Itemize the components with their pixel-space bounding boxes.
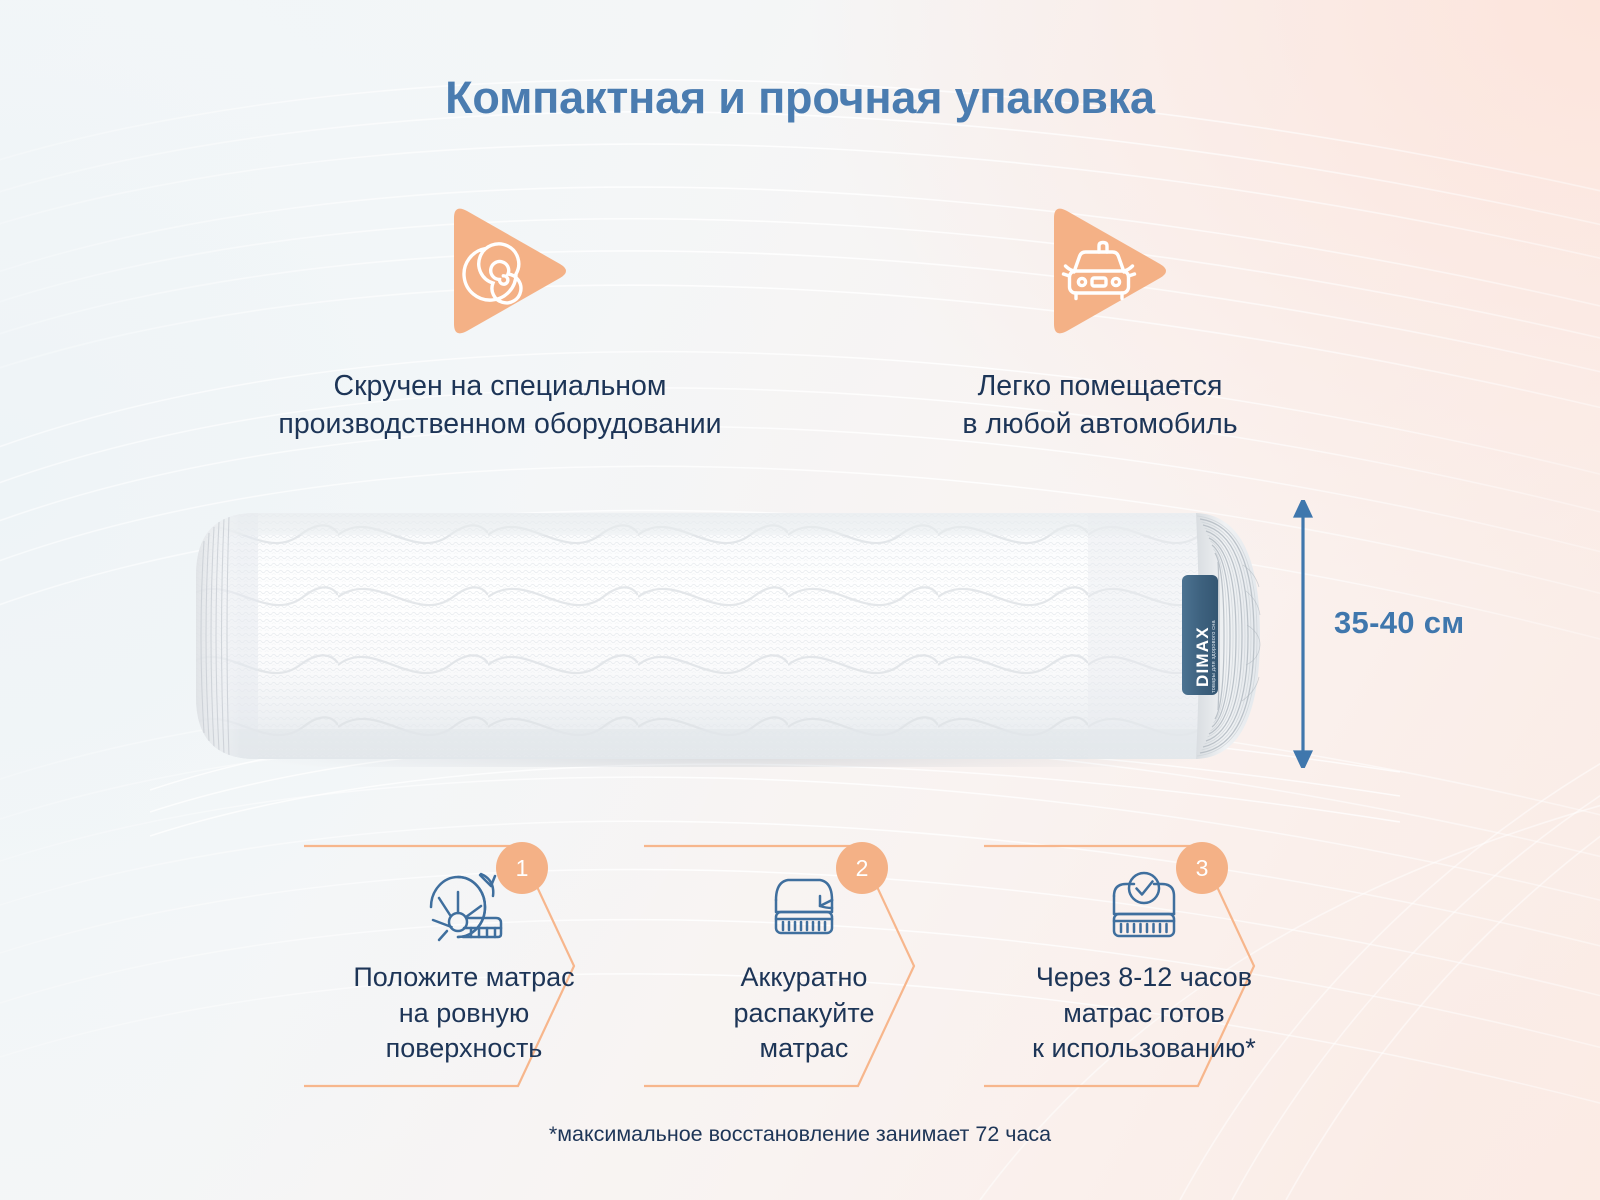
roll-body: [188, 505, 1263, 767]
feature-fits-any-car: Легко помещается в любой автомобиль: [870, 200, 1330, 444]
step-3-icon-wrap: [1104, 868, 1184, 946]
feature-label-roll: Скручен на специальном производственном …: [170, 368, 830, 444]
infographic-canvas: Компактная и прочная упаковка Скручен на…: [0, 0, 1600, 1200]
step-2: Аккуратно распакуйте матрас 2: [636, 842, 972, 1090]
step-2-label: Аккуратно распакуйте матрас: [734, 960, 875, 1067]
unwrap-mattress-icon: [764, 872, 844, 942]
feature-icon-badge-car: [870, 200, 1330, 350]
brand-tag: DIMAX товары для здорового сна: [1182, 575, 1218, 695]
step-1-number: 1: [496, 842, 548, 894]
step-2-icon-wrap: [764, 868, 844, 946]
rounded-triangle-right-shape: [424, 200, 576, 350]
step-1-label: Положите матрас на ровную поверхность: [353, 960, 574, 1067]
feature-icon-badge-roll: [170, 200, 830, 350]
feature-label-car: Легко помещается в любой автомобиль: [870, 368, 1330, 444]
step-1: Положите матрас на ровную поверхность 1: [296, 842, 632, 1090]
step-3-label: Через 8-12 часов матрас готов к использо…: [1032, 960, 1256, 1067]
feature-rolled-on-equipment: Скручен на специальном производственном …: [170, 200, 830, 444]
brand-tag-name: DIMAX: [1193, 626, 1212, 687]
dimension-label: 35-40 см: [1334, 605, 1464, 641]
mattress-roll-image: DIMAX товары для здорового сна: [188, 505, 1263, 767]
rounded-triangle-right-shape: [1024, 200, 1176, 350]
step-3-number: 3: [1176, 842, 1228, 894]
footnote: *максимальное восстановление занимает 72…: [0, 1122, 1600, 1147]
step-3: Через 8-12 часов матрас готов к использо…: [976, 842, 1312, 1090]
brand-tag-tagline: товары для здорового сна: [1211, 619, 1217, 693]
steps-row: Положите матрас на ровную поверхность 1: [296, 842, 1308, 1090]
step-2-number: 2: [836, 842, 888, 894]
unroll-mattress-icon: [423, 870, 505, 944]
page-title: Компактная и прочная упаковка: [0, 72, 1600, 124]
roll-left-edge: [188, 505, 240, 767]
mattress-ready-check-icon: [1104, 870, 1184, 944]
dimension-arrow-vertical: [1288, 500, 1318, 768]
step-1-icon-wrap: [423, 868, 505, 946]
